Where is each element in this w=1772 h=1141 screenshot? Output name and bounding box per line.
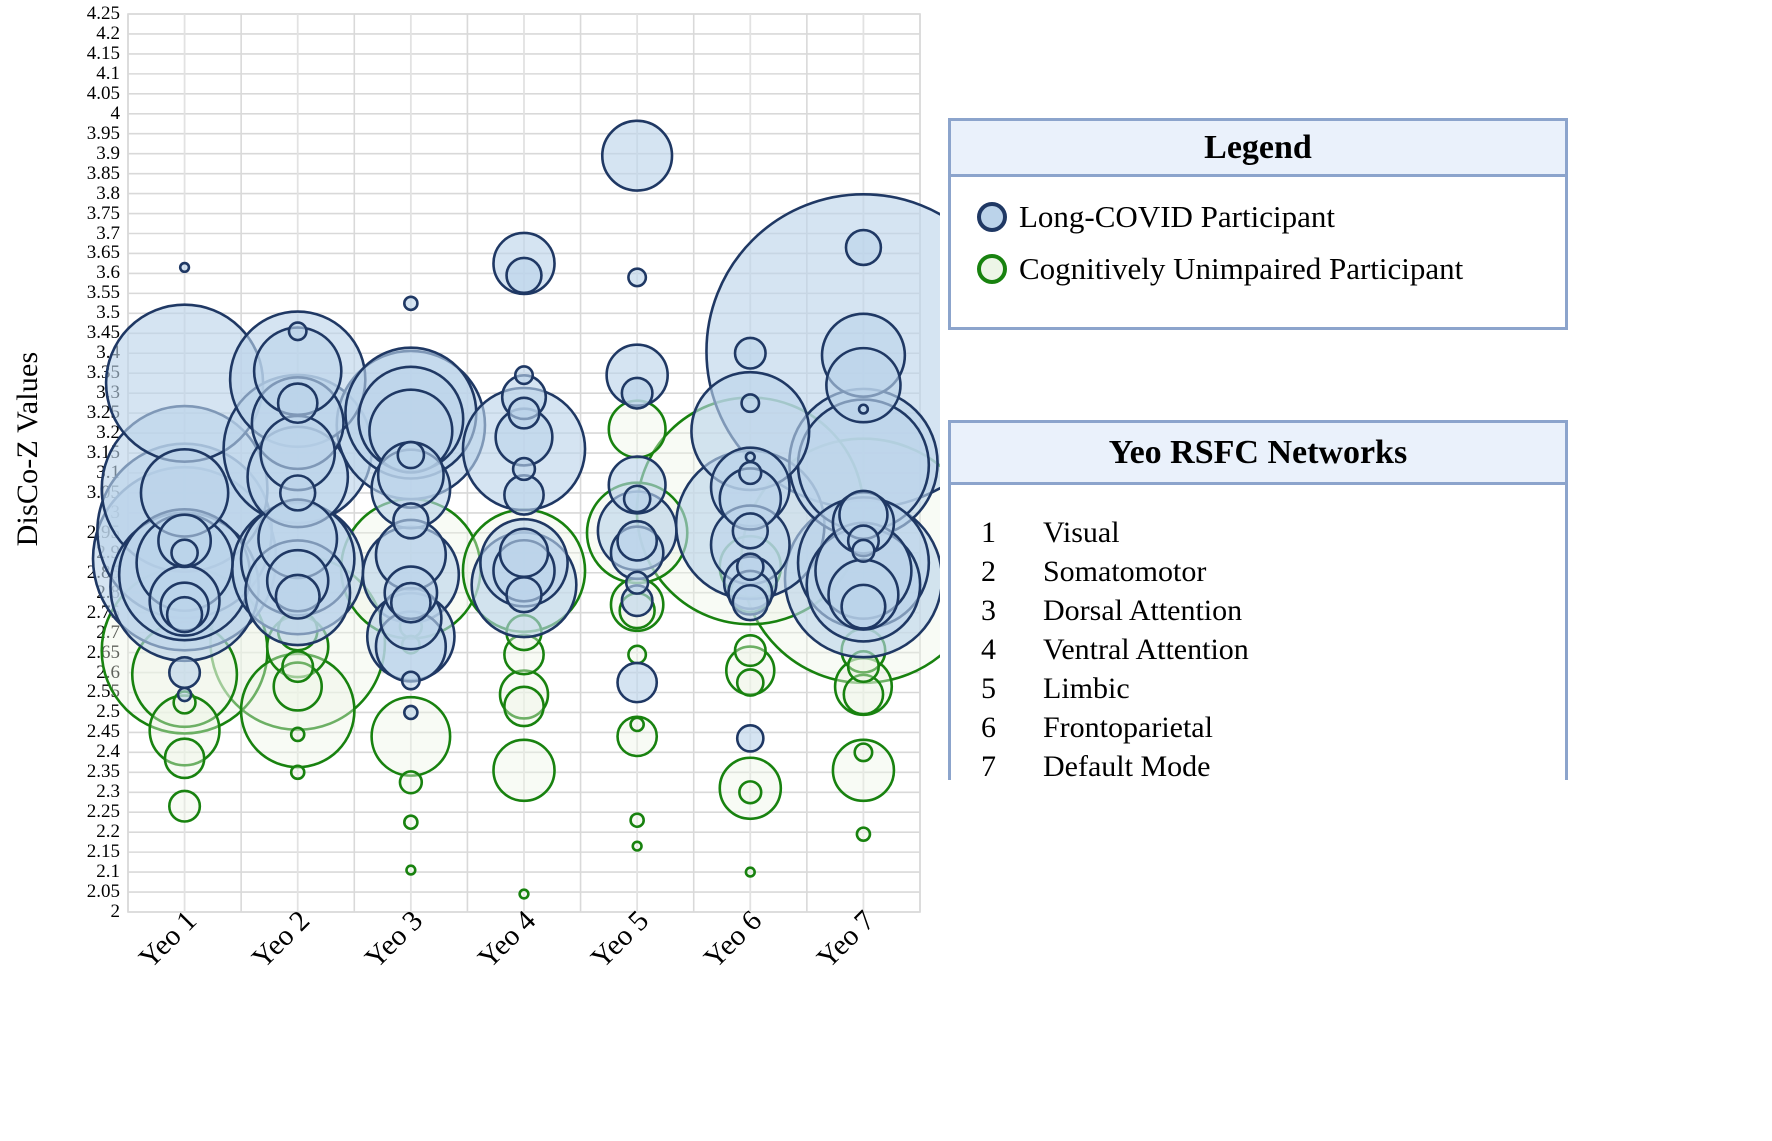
legend-item: Cognitively Unimpaired Participant — [977, 243, 1565, 295]
network-list-item: 6Frontoparietal — [981, 708, 1565, 747]
network-number: 2 — [981, 552, 1043, 591]
legend-title: Legend — [951, 121, 1565, 177]
legend-item-label: Cognitively Unimpaired Participant — [1019, 251, 1463, 287]
network-name: Ventral Attention — [1043, 630, 1249, 669]
bubble-chart-region: DisCo-Z Values 4.254.24.154.14.0543.953.… — [0, 0, 940, 1141]
network-number: 4 — [981, 630, 1043, 669]
x-axis-tick-yeo-5: Yeo 5 — [585, 905, 656, 976]
legend-item: Long-COVID Participant — [977, 191, 1565, 243]
blue-circle-icon — [977, 202, 1007, 232]
network-number: 1 — [981, 513, 1043, 552]
yeo-networks-title: Yeo RSFC Networks — [951, 423, 1565, 485]
legend-item-label: Long-COVID Participant — [1019, 199, 1335, 235]
x-axis-tick-yeo-7: Yeo 7 — [811, 905, 882, 976]
network-name: Default Mode — [1043, 747, 1210, 786]
network-list-item: 5Limbic — [981, 669, 1565, 708]
network-name: Limbic — [1043, 669, 1130, 708]
network-name: Dorsal Attention — [1043, 591, 1242, 630]
x-axis-tick-labels: Yeo 1Yeo 2Yeo 3Yeo 4Yeo 5Yeo 6Yeo 7 — [0, 0, 940, 1141]
network-list-item: 2Somatomotor — [981, 552, 1565, 591]
network-name: Frontoparietal — [1043, 708, 1213, 747]
network-list-item: 1Visual — [981, 513, 1565, 552]
x-axis-tick-yeo-3: Yeo 3 — [359, 905, 430, 976]
green-circle-icon — [977, 254, 1007, 284]
legend-items: Long-COVID ParticipantCognitively Unimpa… — [951, 177, 1565, 327]
network-number: 3 — [981, 591, 1043, 630]
network-list-item: 4Ventral Attention — [981, 630, 1565, 669]
x-axis-tick-yeo-4: Yeo 4 — [472, 905, 543, 976]
network-name: Visual — [1043, 513, 1120, 552]
yeo-networks-panel: Yeo RSFC Networks 1Visual2Somatomotor3Do… — [948, 420, 1568, 780]
network-number: 7 — [981, 747, 1043, 786]
network-list-item: 7Default Mode — [981, 747, 1565, 786]
x-axis-tick-yeo-2: Yeo 2 — [246, 905, 317, 976]
yeo-networks-list: 1Visual2Somatomotor3Dorsal Attention4Ven… — [951, 485, 1565, 780]
network-number: 6 — [981, 708, 1043, 747]
x-axis-tick-yeo-6: Yeo 6 — [698, 905, 769, 976]
network-list-item: 3Dorsal Attention — [981, 591, 1565, 630]
network-name: Somatomotor — [1043, 552, 1206, 591]
legend-panel: Legend Long-COVID ParticipantCognitively… — [948, 118, 1568, 330]
network-number: 5 — [981, 669, 1043, 708]
x-axis-tick-yeo-1: Yeo 1 — [133, 905, 204, 976]
